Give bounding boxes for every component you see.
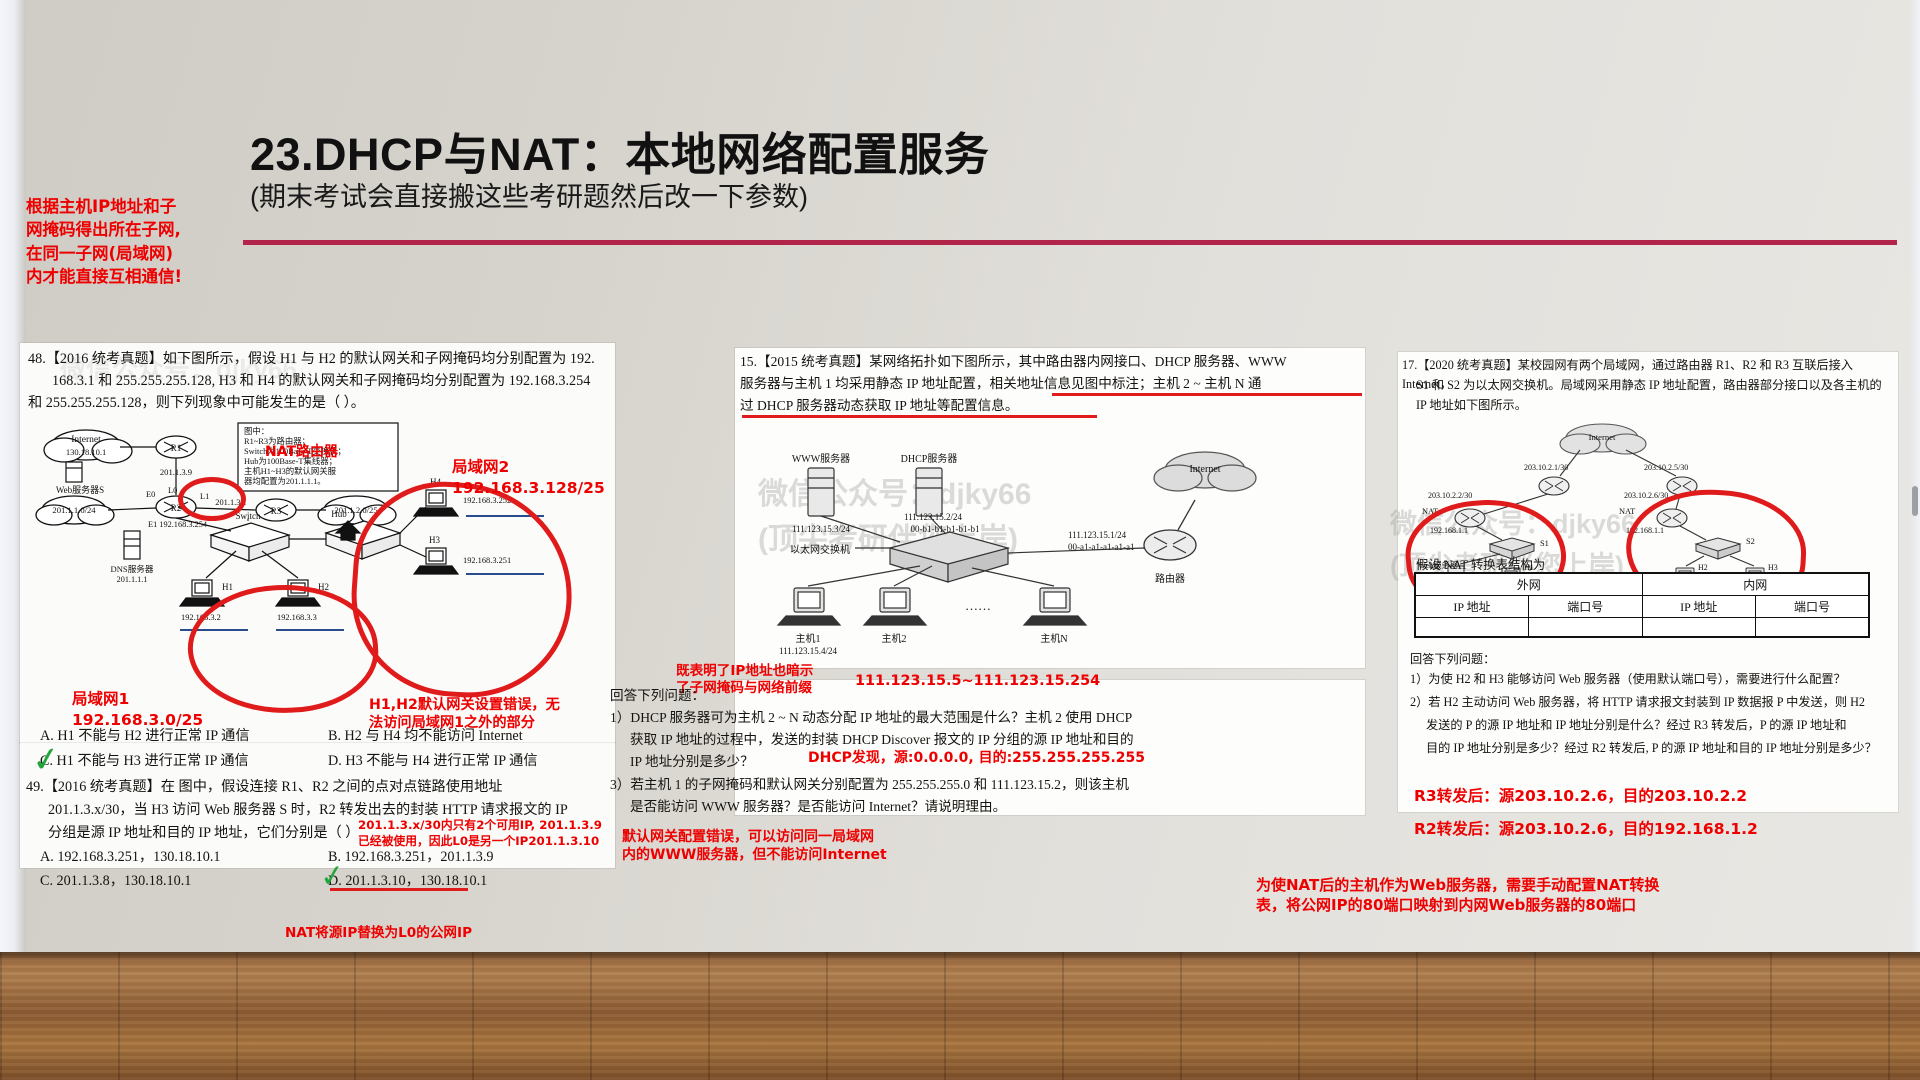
q15-line2: 服务器与主机 1 均采用静态 IP 地址配置，相关地址信息见图中标注；主机 2 … — [740, 374, 1365, 395]
svg-text:L0: L0 — [168, 486, 177, 495]
svg-text:E0: E0 — [146, 490, 155, 499]
annotation-q49-note: 201.1.3.x/30内只有2个可用IP, 201.1.3.9 已经被使用，因… — [358, 818, 602, 850]
svg-text:主机1: 主机1 — [796, 632, 821, 645]
svg-text:……: …… — [965, 598, 991, 613]
q48-line3: 和 255.255.255.128，则下列现象中可能发生的是（ ）。 — [28, 393, 588, 415]
svg-text:WWW服务器: WWW服务器 — [792, 452, 850, 465]
svg-text:主机N: 主机N — [1040, 632, 1067, 645]
svg-text:203.10.2.2/30: 203.10.2.2/30 — [1428, 491, 1472, 500]
q15-answer-1: 1）DHCP 服务器可为主机 2 ~ N 动态分配 IP 地址的最大范围是什么？… — [610, 708, 1230, 729]
svg-text:203.10.2.1/30: 203.10.2.1/30 — [1524, 463, 1568, 472]
annotation-r2-forward: R2转发后：源203.10.2.6，目的192.168.1.2 — [1414, 820, 1758, 840]
nat-col-outer-ip: IP 地址 — [1415, 595, 1529, 617]
svg-text:主机2: 主机2 — [882, 632, 907, 645]
q48-head: 48.【2016 统考真题】如下图所示，假设 H1 与 H2 的默认网关和子网掩… — [28, 349, 608, 371]
nat-col-outer-port: 端口号 — [1529, 595, 1643, 617]
svg-text:R1: R1 — [171, 443, 182, 453]
annotation-nat-table-note: 为使NAT后的主机作为Web服务器，需要手动配置NAT转换 表，将公网IP的80… — [1256, 875, 1659, 916]
redloop-nat-router — [178, 477, 246, 521]
nat-empty-2 — [1529, 617, 1643, 637]
annotation-lan1: 局域网1 192.168.3.0/25 — [72, 689, 203, 731]
svg-text:201.1.1.1: 201.1.1.1 — [117, 575, 148, 584]
q48-option-a: A. H1 不能与 H2 进行正常 IP 通信 — [40, 726, 250, 748]
nat-empty-1 — [1415, 617, 1529, 637]
annotation-mid-gateway-note: 默认网关配置错误，可以访问同一局域网 内的WWW服务器，但不能访问Interne… — [622, 828, 887, 864]
nat-col-inner-ip: IP 地址 — [1642, 595, 1756, 617]
annotation-lan2: 局域网2 192.168.3.128/25 — [452, 457, 605, 499]
svg-text:DNS服务器: DNS服务器 — [111, 563, 154, 574]
q15-answer-head: 回答下列问题： — [610, 686, 705, 707]
q15-line3: 过 DHCP 服务器动态获取 IP 地址等配置信息。 — [740, 396, 1365, 417]
underline-q15-a — [1052, 393, 1362, 396]
nat-head-outer: 外网 — [1415, 573, 1642, 595]
q15-answer-1b: 获取 IP 地址的过程中，发送的封装 DHCP Discover 报文的 IP … — [630, 730, 1240, 751]
annotation-top-left: 根据主机IP地址和子 网掩码得出所在子网, 在同一子网(局域网) 内才能直接互相… — [26, 195, 182, 289]
q49-option-c: C. 201.1.3.8，130.18.10.1 — [40, 871, 191, 893]
q15-answer-3b: 是否能访问 WWW 服务器？是否能访问 Internet？请说明理由。 — [630, 797, 1250, 818]
svg-text:H1: H1 — [222, 582, 233, 592]
svg-text:Web服务器S: Web服务器S — [56, 484, 104, 495]
green-check-q48: ✓ — [30, 741, 63, 779]
q49-option-b: B. 192.168.3.251，201.1.3.9 — [328, 847, 494, 869]
annotation-mid-range: 111.123.15.5~111.123.15.254 — [855, 672, 1100, 690]
q17-line2: S1 和 S2 为以太网交换机。局域网采用静态 IP 地址配置，路由器部分接口以… — [1416, 376, 1906, 395]
desk-surface — [0, 952, 1920, 1080]
svg-text:130.18.10.1: 130.18.10.1 — [66, 447, 106, 457]
svg-text:111.123.15.1/24: 111.123.15.1/24 — [1068, 530, 1127, 540]
annotation-nat-router: NAT路由器 — [265, 444, 338, 462]
svg-text:图中：: 图中： — [244, 426, 269, 436]
underline-q15-b — [742, 415, 1097, 418]
nat-head-inner: 内网 — [1642, 573, 1869, 595]
svg-text:111.123.15.4/24: 111.123.15.4/24 — [779, 646, 838, 656]
q48-option-b: B. H2 与 H4 均不能访问 Internet — [328, 726, 523, 748]
q49-head: 49.【2016 统考真题】在 图中，假设连接 R1、R2 之间的点对点链路使用… — [26, 777, 616, 799]
mid-network-diagram: WWW服务器 111.123.15.3/24 DHCP服务器 111.123.1… — [750, 420, 1360, 670]
svg-text:R3: R3 — [271, 506, 282, 516]
svg-text:201.1.1.0/24: 201.1.1.0/24 — [52, 505, 96, 515]
slide-right-edge — [1910, 0, 1920, 952]
svg-text:Internet: Internet — [71, 435, 101, 445]
q17-answer-2c: 目的 IP 地址分别是多少？经过 R2 转发后, P 的源 IP 地址和目的 I… — [1426, 739, 1906, 758]
q17-answer-2: 2）若 H2 主动访问 Web 服务器，将 HTTP 请求报文封装到 IP 数据… — [1410, 693, 1900, 712]
q15-answer-3: 3）若主机 1 的子网掩码和默认网关分别配置为 255.255.255.0 和 … — [610, 775, 1235, 796]
svg-text:Internet: Internet — [1589, 432, 1616, 442]
svg-text:Hub: Hub — [331, 509, 347, 519]
q48-option-d: D. H3 不能与 H4 进行正常 IP 通信 — [328, 751, 538, 773]
q48-option-c: C. H1 不能与 H3 进行正常 IP 通信 — [40, 751, 249, 773]
svg-text:主机H1~H3的默认网关服: 主机H1~H3的默认网关服 — [244, 466, 337, 476]
underline-q49-option-d — [330, 888, 468, 891]
nat-col-inner-port: 端口号 — [1756, 595, 1870, 617]
annotation-r3-forward: R3转发后：源203.10.2.6，目的203.10.2.2 — [1414, 787, 1747, 807]
scroll-indicator[interactable] — [1912, 486, 1918, 516]
annotation-dhcp-discover: DHCP发现，源:0.0.0.0, 目的:255.255.255.255 — [808, 750, 1145, 768]
svg-text:E1 192.168.3.254: E1 192.168.3.254 — [148, 520, 208, 529]
svg-text:器均配置为201.1.1.1。: 器均配置为201.1.1.1。 — [244, 476, 326, 486]
q17-line3: IP 地址如下图所示。 — [1416, 396, 1906, 415]
svg-text:NAT: NAT — [1619, 507, 1635, 516]
page-subtitle: (期末考试会直接搬这些考研题然后改一下参数) — [250, 175, 808, 214]
svg-text:路由器: 路由器 — [1155, 572, 1185, 585]
nat-empty-4 — [1756, 617, 1870, 637]
q48-line2: 168.3.1 和 255.255.255.128, H3 和 H4 的默认网关… — [52, 371, 612, 393]
nat-structure-table: 外网 内网 IP 地址 端口号 IP 地址 端口号 — [1414, 572, 1870, 638]
q17-answer-1: 1）为使 H2 和 H3 能够访问 Web 服务器（使用默认端口号），需要进行什… — [1410, 670, 1900, 689]
title-divider — [243, 240, 1897, 245]
svg-text:Internet: Internet — [1189, 464, 1220, 475]
slide-screenshot: 23.DHCP与NAT：本地网络配置服务 (期末考试会直接搬这些考研题然后改一下… — [0, 0, 1920, 1080]
svg-text:111.123.15.3/24: 111.123.15.3/24 — [792, 524, 851, 534]
svg-text:DHCP服务器: DHCP服务器 — [901, 452, 958, 465]
q17-answer-head: 回答下列问题： — [1410, 650, 1495, 669]
q17-answer-2b: 发送的 P 的源 IP 地址和 IP 地址分别是什么？经过 R3 转发后，P 的… — [1426, 716, 1906, 735]
svg-text:以太网交换机: 以太网交换机 — [790, 543, 850, 556]
annotation-nat-replace: NAT将源IP替换为L0的公网IP — [285, 925, 472, 942]
nat-empty-3 — [1642, 617, 1756, 637]
page-title: 23.DHCP与NAT：本地网络配置服务 — [250, 118, 989, 183]
q49-option-a: A. 192.168.3.251，130.18.10.1 — [40, 847, 221, 869]
q15-head: 15.【2015 统考真题】某网络拓扑如下图所示，其中路由器内网接口、DHCP … — [740, 352, 1365, 373]
